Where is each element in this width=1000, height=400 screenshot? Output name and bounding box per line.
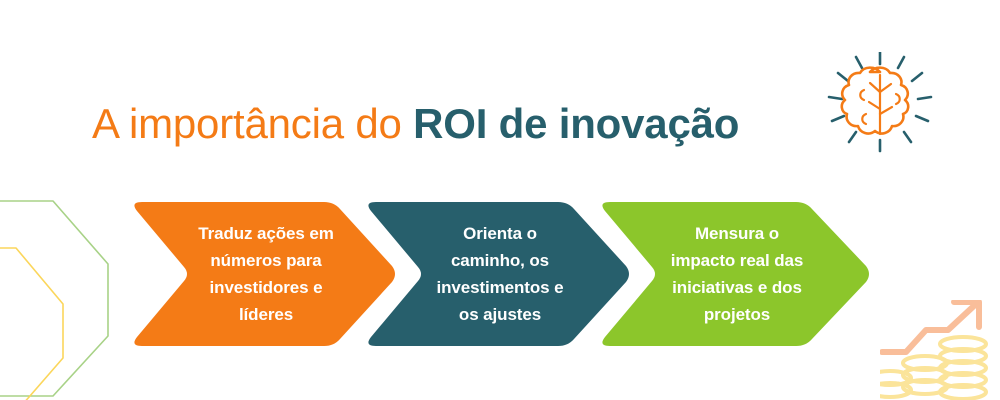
coin-stack-short	[880, 371, 911, 397]
process-step-1-label: Traduz ações em números para investidore…	[128, 220, 400, 328]
process-step-3[interactable]: Mensura o impacto real das iniciativas e…	[596, 198, 874, 350]
process-step-2-label: Orienta o caminho, os investimentos e os…	[362, 220, 634, 328]
page-title-part-1: A importância do	[92, 100, 413, 147]
process-step-3-label: Mensura o impacto real das iniciativas e…	[596, 220, 874, 328]
page-title-part-2: ROI de inovação	[413, 100, 739, 147]
coin-stack-medium	[903, 356, 947, 394]
process-flow: Traduz ações em números para investidore…	[0, 198, 1000, 350]
process-step-2[interactable]: Orienta o caminho, os investimentos e os…	[362, 198, 634, 350]
infographic-canvas: A importância do ROI de inovação	[0, 0, 1000, 400]
brain-icon	[824, 52, 936, 156]
page-title: A importância do ROI de inovação	[92, 98, 739, 150]
brain-outline	[842, 68, 908, 134]
process-step-1[interactable]: Traduz ações em números para investidore…	[128, 198, 400, 350]
